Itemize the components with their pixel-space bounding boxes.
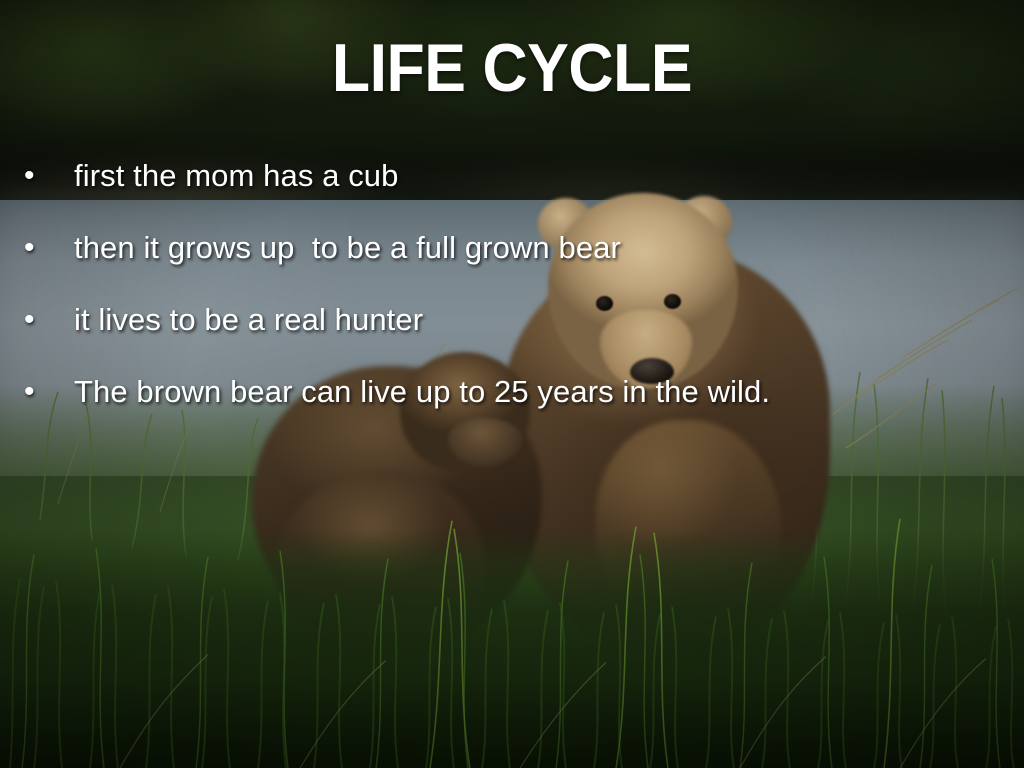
bullet-item: • it lives to be a real hunter (18, 300, 1008, 372)
bullet-text: The brown bear can live up to 25 years i… (74, 372, 1008, 412)
bullet-marker-icon: • (18, 372, 74, 412)
bullet-marker-icon: • (18, 156, 74, 196)
bullet-list: • first the mom has a cub • then it grow… (18, 156, 1008, 444)
bullet-item: • then it grows up to be a full grown be… (18, 228, 1008, 300)
bullet-marker-icon: • (18, 228, 74, 268)
presentation-slide: LIFE CYCLE • first the mom has a cub • t… (0, 0, 1024, 768)
bullet-text: it lives to be a real hunter (74, 300, 1008, 340)
bullet-text: first the mom has a cub (74, 156, 1008, 196)
slide-content: LIFE CYCLE • first the mom has a cub • t… (0, 0, 1024, 768)
bullet-text: then it grows up to be a full grown bear (74, 228, 1008, 268)
bullet-item: • The brown bear can live up to 25 years… (18, 372, 1008, 444)
bullet-marker-icon: • (18, 300, 74, 340)
slide-title: LIFE CYCLE (41, 34, 983, 102)
bullet-item: • first the mom has a cub (18, 156, 1008, 228)
